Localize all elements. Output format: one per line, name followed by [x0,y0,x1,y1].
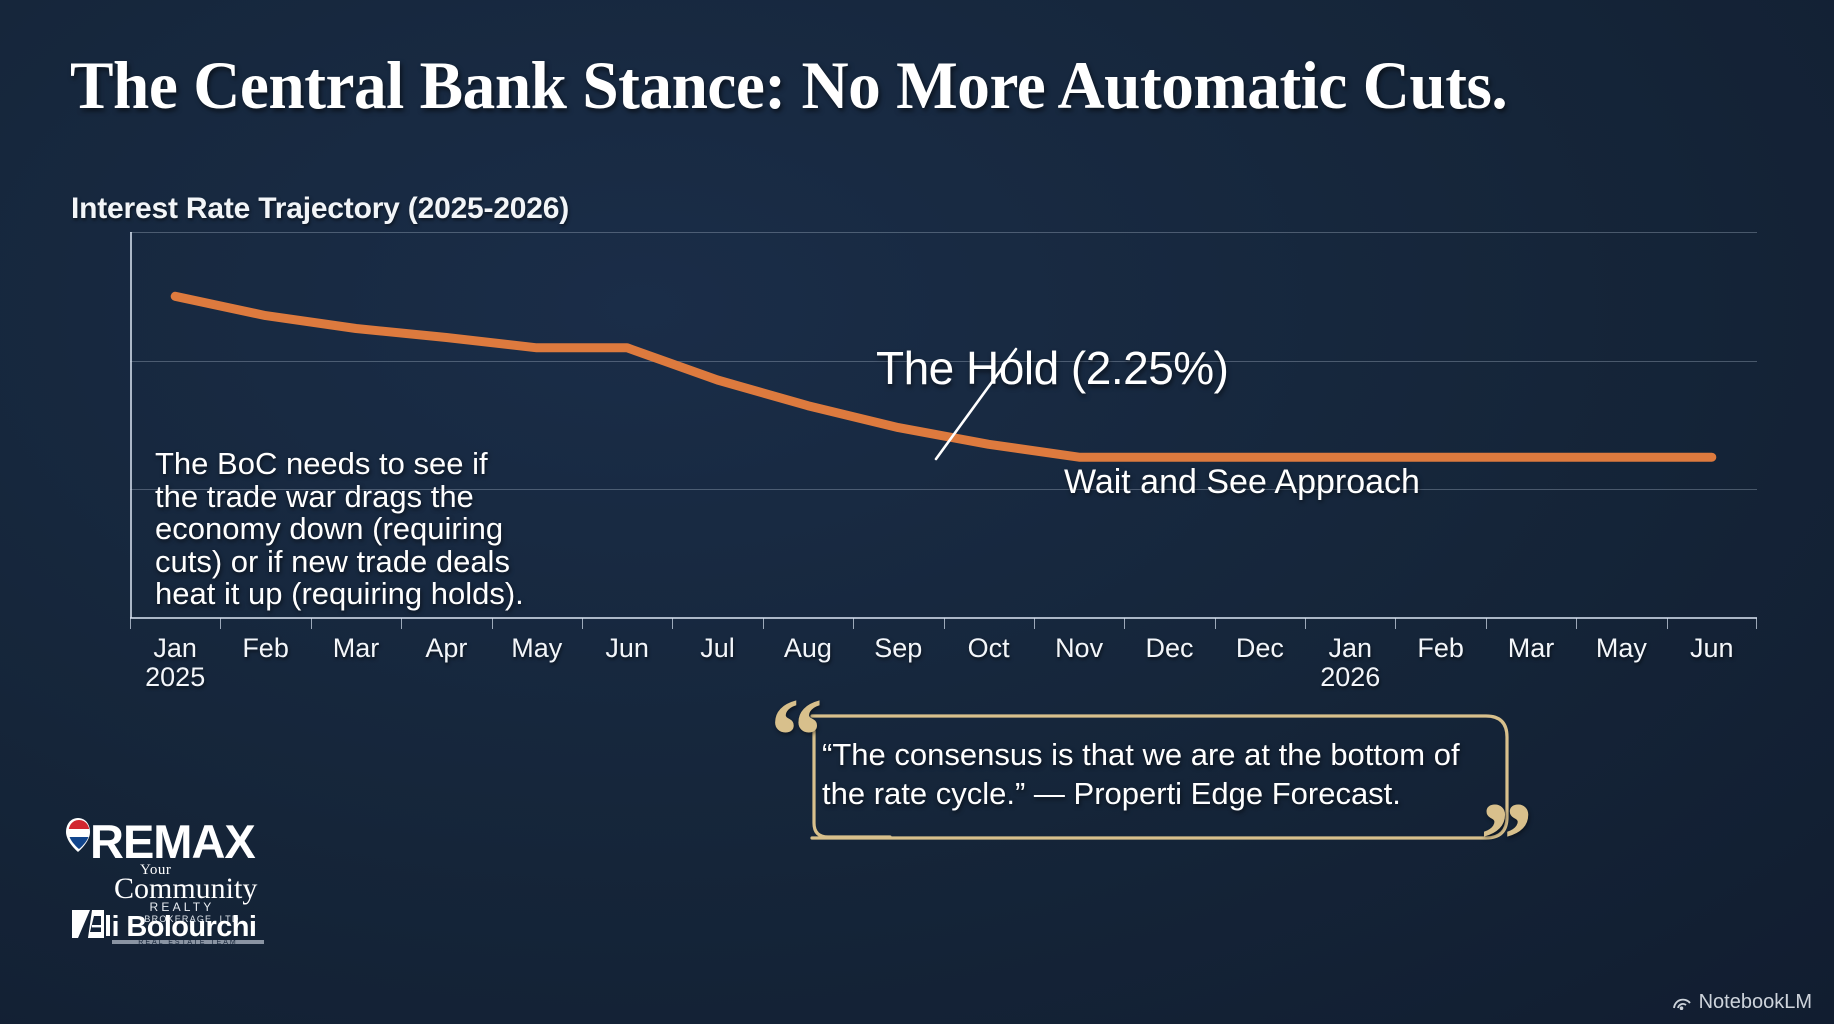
x-tick-month: Jun [605,633,649,663]
x-tick-month: Jun [1690,633,1734,663]
x-tick-month: Dec [1236,633,1284,663]
x-axis-tick-mark [492,618,493,629]
agent-logo-svg: li Bolourchi REAL ESTATE TEAM [68,906,268,946]
x-tick-month: Jan [153,633,197,663]
x-axis-tick-mark [1305,618,1306,629]
x-tick-month: May [1596,633,1647,663]
x-tick-month: Aug [784,633,832,663]
leader-line [920,345,1030,465]
page-title: The Central Bank Stance: No More Automat… [70,46,1702,125]
wait-and-see-label: Wait and See Approach [1064,463,1420,502]
x-tick-year: 2025 [110,663,240,692]
x-tick-month: May [511,633,562,663]
agent-logo: li Bolourchi REAL ESTATE TEAM [68,906,268,951]
x-axis-tick-mark [1486,618,1487,629]
x-axis-tick-mark [1667,618,1668,629]
remax-wordmark: REMAX [90,815,255,868]
x-tick-month: Dec [1145,633,1193,663]
chart-subtitle: Interest Rate Trajectory (2025-2026) [71,192,569,226]
x-axis-tick-mark [672,618,673,629]
x-axis-tick-mark [1576,618,1577,629]
x-axis-tick-mark [220,618,221,629]
x-axis-tick-label: Jun [1647,634,1777,663]
x-axis-tick-mark [853,618,854,629]
x-axis-tick-mark [1215,618,1216,629]
x-tick-month: Oct [968,633,1010,663]
x-axis-tick-mark [1124,618,1125,629]
x-tick-month: Mar [333,633,380,663]
x-axis-tick-mark [1395,618,1396,629]
quote-open-mark: “ [770,683,823,789]
slide-canvas: The Central Bank Stance: No More Automat… [0,0,1834,1024]
x-tick-month: Apr [425,633,467,663]
notebooklm-watermark: NotebookLM [1672,991,1812,1014]
x-tick-month: Jul [700,633,735,663]
agent-mark-icon [72,910,104,938]
x-axis-tick-mark [1034,618,1035,629]
x-axis-tick-mark [401,618,402,629]
x-tick-year: 2026 [1285,663,1415,692]
x-tick-month: Sep [874,633,922,663]
quote-card: “ ” “The consensus is that we are at the… [790,713,1510,841]
x-axis-tick-mark [763,618,764,629]
quote-text: “The consensus is that we are at the bot… [822,735,1492,814]
remax-balloon-icon [66,818,90,853]
x-axis-tick-mark [1756,618,1757,629]
notebooklm-icon [1672,993,1692,1013]
x-tick-month: Feb [242,633,289,663]
x-axis-tick-mark [944,618,945,629]
x-axis-tick-mark [130,618,131,629]
x-tick-month: Nov [1055,633,1103,663]
x-tick-month: Mar [1508,633,1555,663]
x-axis-tick-mark [582,618,583,629]
boc-annotation-note: The BoC needs to see if the trade war dr… [155,448,535,611]
agent-tagline-label: REAL ESTATE TEAM [138,939,237,946]
x-axis-tick-mark [311,618,312,629]
notebooklm-label: NotebookLM [1699,991,1812,1014]
x-tick-month: Feb [1417,633,1464,663]
x-tick-month: Jan [1328,633,1372,663]
